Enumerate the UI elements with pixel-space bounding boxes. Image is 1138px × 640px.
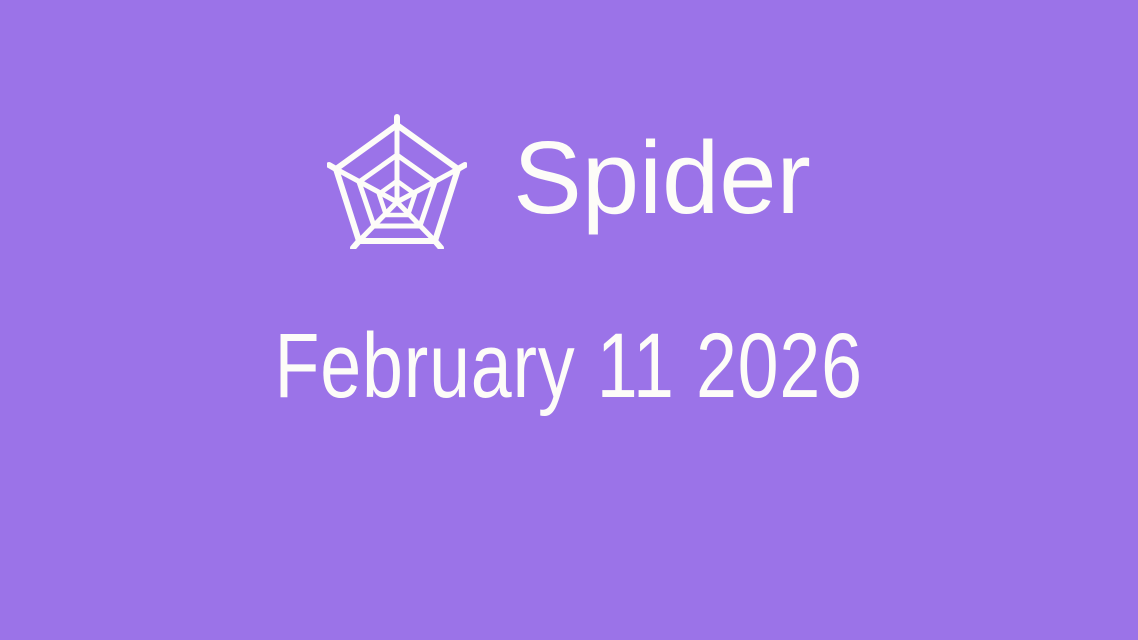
spider-web-icon xyxy=(327,109,467,249)
game-title: Spider xyxy=(513,126,811,229)
date-row: February 11 2026 xyxy=(0,316,1138,416)
splash-date: February 11 2026 xyxy=(275,320,863,412)
title-row: Spider xyxy=(0,104,1138,254)
spider-splash-screen: Spider February 11 2026 xyxy=(0,0,1138,640)
